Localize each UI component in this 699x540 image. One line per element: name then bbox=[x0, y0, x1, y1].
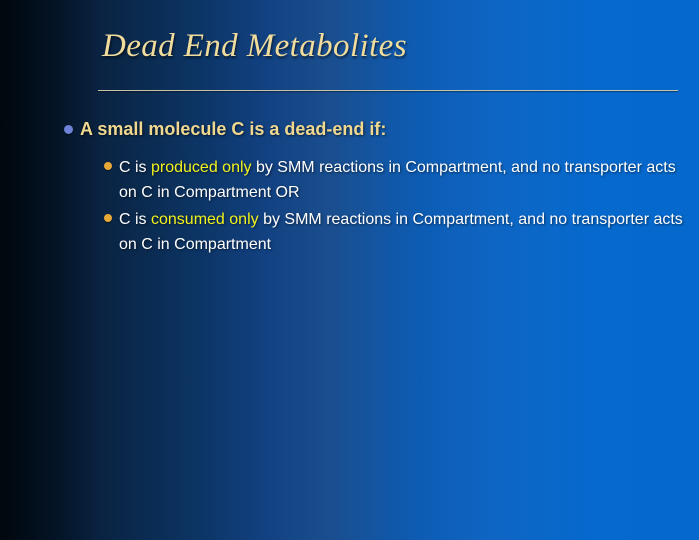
bullet-level2-produced-label: C is produced only by SMM reactions in C… bbox=[119, 155, 684, 205]
slide-body: A small molecule C is a dead-end if: C i… bbox=[0, 0, 699, 540]
text-highlight: produced only bbox=[151, 159, 252, 176]
bullet-level2-produced: C is produced only by SMM reactions in C… bbox=[104, 155, 684, 205]
text-lead: C is bbox=[119, 211, 151, 228]
bullet-level1-label: A small molecule C is a dead-end if: bbox=[80, 118, 386, 141]
circle-bullet-icon bbox=[104, 162, 112, 170]
text-lead: C is bbox=[119, 159, 151, 176]
presentation-slide: Dead End Metabolites A small molecule C … bbox=[0, 0, 699, 540]
bullet-level2-consumed-label: C is consumed only by SMM reactions in C… bbox=[119, 207, 684, 257]
circle-bullet-icon bbox=[104, 214, 112, 222]
text-highlight: consumed only bbox=[151, 211, 259, 228]
bullet-level2-consumed: C is consumed only by SMM reactions in C… bbox=[104, 207, 684, 257]
circle-bullet-icon bbox=[64, 125, 73, 134]
bullet-level1: A small molecule C is a dead-end if: bbox=[64, 118, 386, 141]
